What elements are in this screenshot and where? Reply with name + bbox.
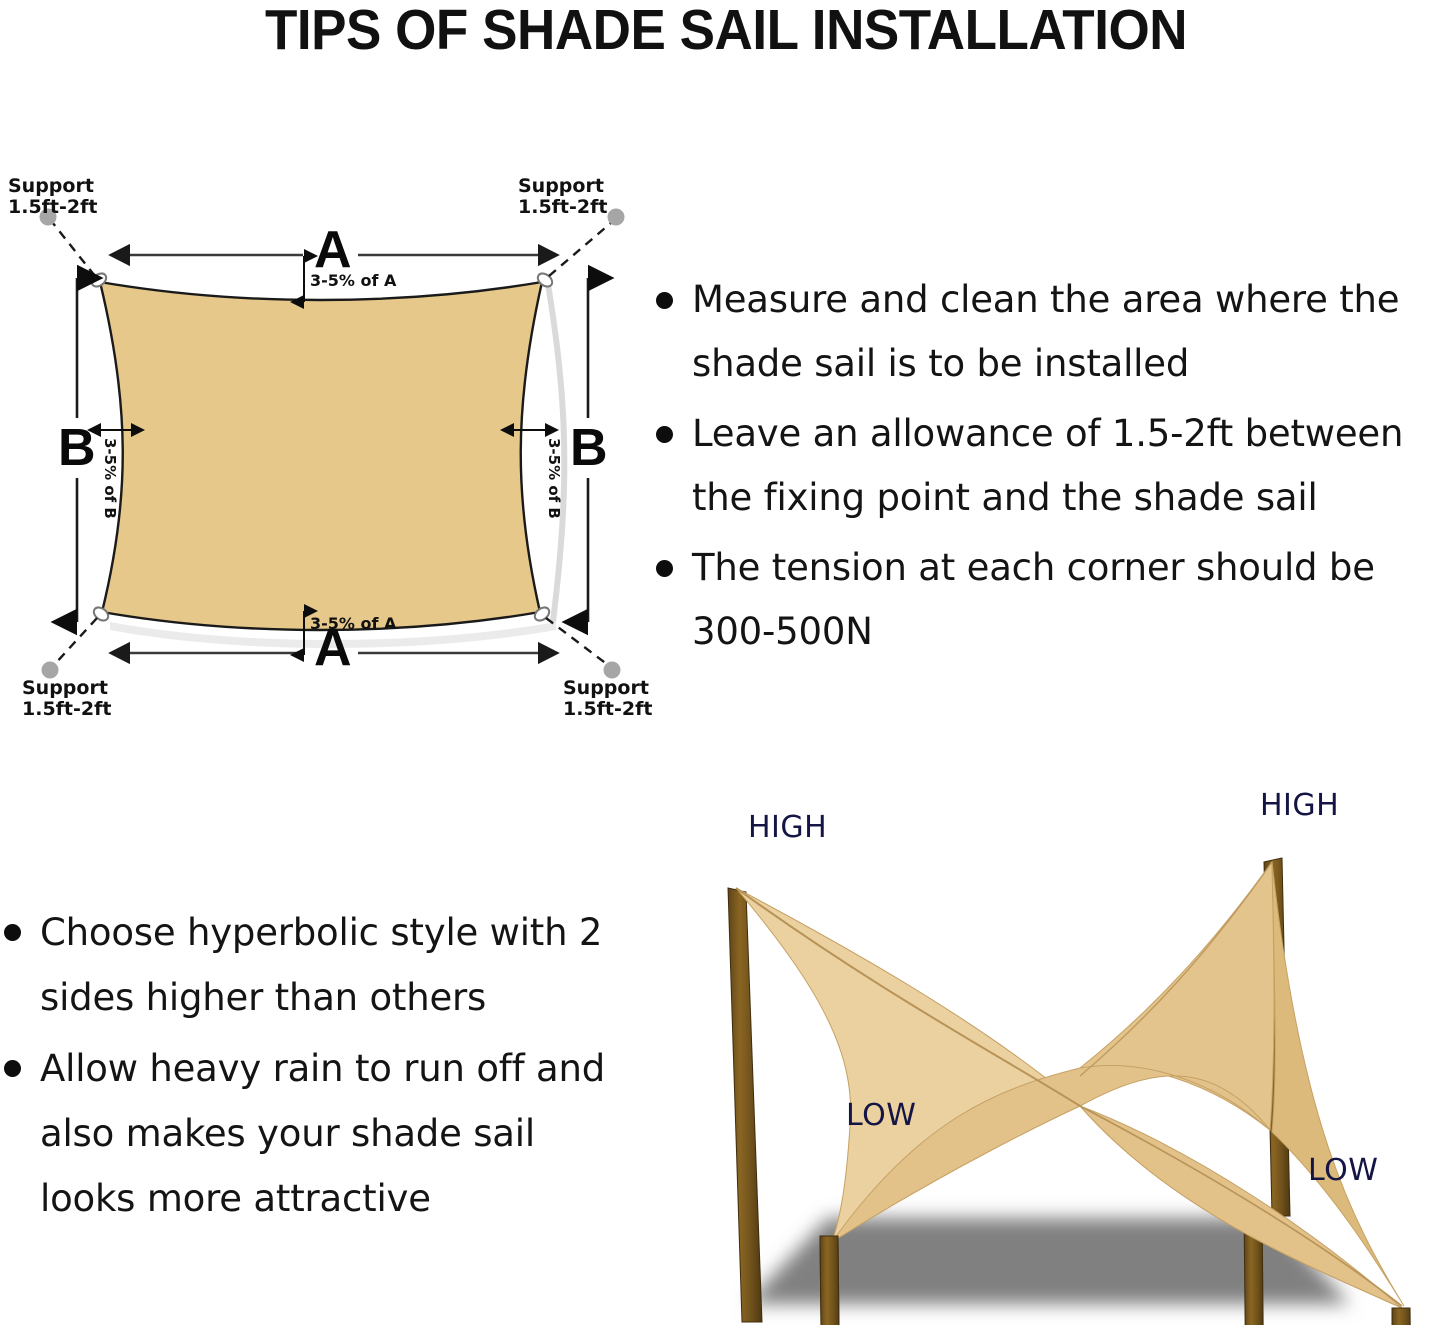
list-item: Leave an allowance of 1.5-2ft between th…	[652, 402, 1452, 530]
list-item: Measure and clean the area where the sha…	[652, 268, 1452, 396]
support-dot-bottom-right	[604, 662, 621, 679]
tether-top-left	[52, 222, 95, 276]
tip-text: Leave an allowance of 1.5-2ft between th…	[692, 412, 1403, 519]
hyperbolic-sail-svg	[650, 788, 1452, 1325]
bullet-dot-icon	[4, 924, 21, 941]
installation-tips-right-list: Measure and clean the area where the sha…	[652, 268, 1452, 670]
support-label-line2: 1.5ft-2ft	[518, 197, 607, 218]
support-label-line1: Support	[518, 176, 607, 197]
support-label-bottom-right: Support 1.5ft-2ft	[563, 678, 652, 721]
support-label-top-left: Support 1.5ft-2ft	[8, 176, 97, 219]
list-item: Choose hyperbolic style with 2 sides hig…	[0, 900, 620, 1030]
label-low-left: LOW	[846, 1098, 916, 1133]
pole-low-right-front	[1392, 1308, 1412, 1325]
pole-low-left-front	[820, 1236, 840, 1325]
hyperbolic-sail-diagram: HIGH HIGH LOW LOW	[650, 788, 1452, 1325]
support-label-line1: Support	[8, 176, 97, 197]
list-item: The tension at each corner should be 300…	[652, 536, 1452, 664]
tip-text: The tension at each corner should be 300…	[692, 546, 1375, 653]
list-item: Allow heavy rain to run off and also mak…	[0, 1036, 620, 1231]
dimension-letter-a-top: A	[314, 224, 352, 276]
support-label-bottom-left: Support 1.5ft-2ft	[22, 678, 111, 721]
label-low-right: LOW	[1308, 1153, 1378, 1188]
curve-note-bottom: 3-5% of A	[310, 615, 396, 633]
tip-text: Measure and clean the area where the sha…	[692, 278, 1399, 385]
support-label-line1: Support	[22, 678, 111, 699]
tip-text: Choose hyperbolic style with 2 sides hig…	[40, 911, 602, 1019]
support-dot-top-right	[608, 209, 625, 226]
tether-bottom-left	[54, 618, 97, 665]
bullet-dot-icon	[4, 1060, 21, 1077]
sail-body	[100, 282, 542, 630]
pole-high-left	[728, 888, 762, 1322]
page-title: TIPS OF SHADE SAIL INSTALLATION	[51, 0, 1401, 62]
bullet-dot-icon	[656, 560, 673, 577]
support-label-line1: Support	[563, 678, 652, 699]
support-label-line2: 1.5ft-2ft	[8, 197, 97, 218]
curve-note-right: 3-5% of B	[545, 438, 562, 519]
curve-note-left: 3-5% of B	[101, 438, 118, 519]
bullet-dot-icon	[656, 426, 673, 443]
tip-text: Allow heavy rain to run off and also mak…	[40, 1047, 605, 1220]
tether-top-right	[549, 222, 612, 276]
bullet-dot-icon	[656, 292, 673, 309]
support-dot-bottom-left	[42, 662, 59, 679]
support-label-top-right: Support 1.5ft-2ft	[518, 176, 607, 219]
dimension-letter-b-right: B	[570, 422, 608, 474]
support-label-line2: 1.5ft-2ft	[22, 699, 111, 720]
support-label-line2: 1.5ft-2ft	[563, 699, 652, 720]
curve-note-top: 3-5% of A	[310, 272, 396, 290]
dimension-letter-b-left: B	[58, 422, 96, 474]
installation-tips-bottom-list: Choose hyperbolic style with 2 sides hig…	[0, 900, 620, 1237]
label-high-right: HIGH	[1260, 788, 1339, 823]
label-high-left: HIGH	[748, 810, 827, 845]
rectangular-sail-diagram: Support 1.5ft-2ft Support 1.5ft-2ft Supp…	[0, 160, 660, 730]
